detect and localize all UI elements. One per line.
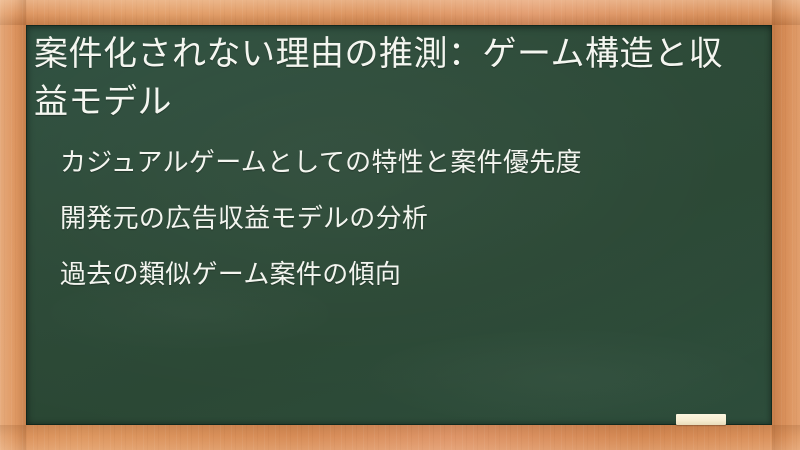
bullet-list: カジュアルゲームとしての特性と案件優先度 開発元の広告収益モデルの分析 過去の類…: [30, 148, 754, 290]
slide-title: 案件化されない理由の推測：ゲーム構造と収益モデル: [30, 30, 744, 126]
list-item: 開発元の広告収益モデルの分析: [30, 204, 754, 234]
frame-plank-bottom: [0, 425, 800, 450]
board-content: 案件化されない理由の推測：ゲーム構造と収益モデル カジュアルゲームとしての特性と…: [26, 25, 772, 425]
frame-plank-right: [772, 0, 800, 450]
chalk-stick-icon: [676, 414, 726, 425]
list-item: 過去の類似ゲーム案件の傾向: [30, 260, 754, 290]
list-item: カジュアルゲームとしての特性と案件優先度: [30, 148, 754, 178]
frame-plank-top: [0, 0, 800, 25]
chalkboard-slide: 案件化されない理由の推測：ゲーム構造と収益モデル カジュアルゲームとしての特性と…: [0, 0, 800, 450]
chalkboard-surface: 案件化されない理由の推測：ゲーム構造と収益モデル カジュアルゲームとしての特性と…: [26, 25, 772, 425]
frame-plank-left: [0, 0, 26, 450]
